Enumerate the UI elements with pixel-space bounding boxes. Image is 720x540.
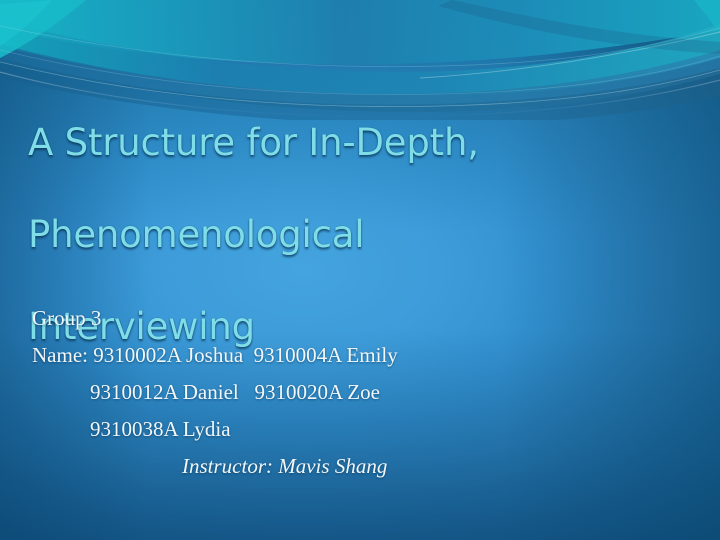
slide-body: Group 3 Name: 9310002A Joshua 9310004A E… [32,300,672,485]
title-line-1: A Structure for In-Depth, [28,121,479,164]
group-label: Group 3 [32,300,672,337]
title-line-2: Phenomenological [28,213,364,256]
instructor-line: Instructor: Mavis Shang [32,448,672,485]
presentation-slide: A Structure for In-Depth, Phenomenologic… [0,0,720,540]
roster-line-3: 9310038A Lydia [32,411,672,448]
roster-line-1: Name: 9310002A Joshua 9310004A Emily [32,337,672,374]
roster-line-2: 9310012A Daniel 9310020A Zoe [32,374,672,411]
